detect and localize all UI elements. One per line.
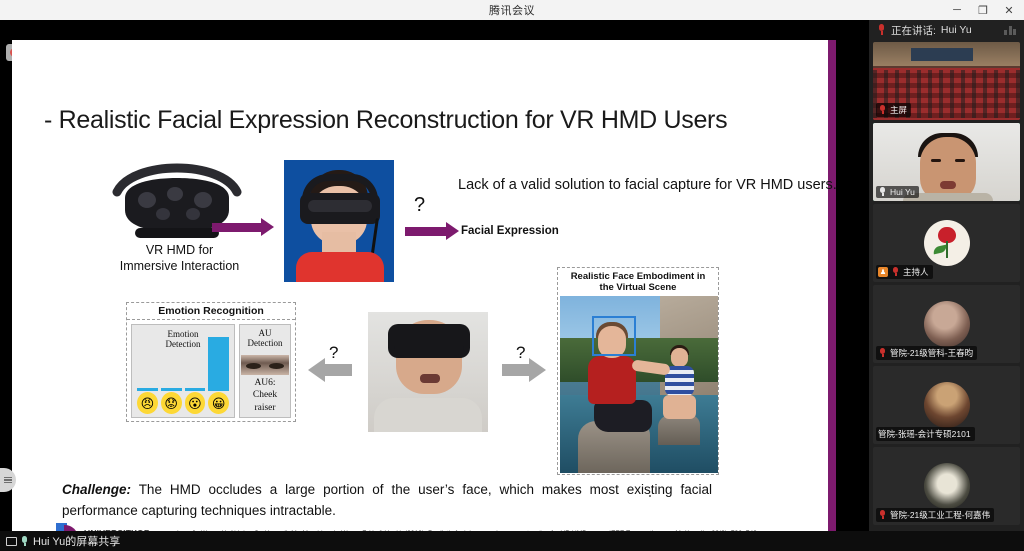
participant-label: 管院-21级工业工程-何嘉伟 xyxy=(876,508,994,522)
window-titlebar: 腾讯会议 ─ ❐ ✕ xyxy=(0,0,1024,20)
emotion-bar xyxy=(161,388,182,391)
hmd-caption: VR HMD for Immersive Interaction xyxy=(92,243,267,274)
close-icon[interactable]: ✕ xyxy=(996,0,1022,20)
purple-arrow-right-1 xyxy=(212,218,274,236)
participant-tile[interactable]: 管院-张瑶-会计专硕2101 xyxy=(873,366,1020,444)
participant-tile[interactable]: ♟主持人 xyxy=(873,204,1020,282)
mic-muted-icon xyxy=(891,267,900,277)
participant-name: 管院-21级工业工程-何嘉伟 xyxy=(890,509,990,521)
participant-name: Hui Yu xyxy=(890,187,915,197)
virtual-scene-image xyxy=(560,296,718,473)
audio-wave-icon xyxy=(1004,25,1016,35)
participant-name: 主持人 xyxy=(903,266,929,278)
speaking-prefix: 正在讲话: xyxy=(891,23,936,38)
hmd-caption-line2: Immersive Interaction xyxy=(92,259,267,275)
eye-region-image xyxy=(241,355,289,375)
screen-share-statusbar: Hui Yu的屏幕共享 xyxy=(0,531,1024,551)
emotion-bar xyxy=(185,388,206,391)
participant-tile[interactable]: 主屏 xyxy=(873,42,1020,120)
participant-name: 管院-21级管科-王春昀 xyxy=(890,347,973,359)
emotion-bars xyxy=(137,335,229,391)
hmd-caption-line1: VR HMD for xyxy=(92,243,267,259)
participant-label: 主屏 xyxy=(876,103,911,117)
mic-muted-icon xyxy=(878,348,887,358)
host-icon: ♟ xyxy=(878,267,888,277)
virtual-scene-panel: Realistic Face Embodiment in the Virtual… xyxy=(557,267,719,475)
participant-label: 管院-张瑶-会计专硕2101 xyxy=(876,427,975,441)
mic-icon xyxy=(21,536,29,547)
meeting-window: 腾讯会议 ─ ❐ ✕ 录制中 - Realistic Facial Expres… xyxy=(0,0,1024,551)
photo-hmd xyxy=(300,193,380,224)
participant-label: 管院-21级管科-王春昀 xyxy=(876,346,977,360)
emotion-face-icon: 😀 xyxy=(208,392,229,414)
shared-screen-stage[interactable]: 录制中 - Realistic Facial Expression Recons… xyxy=(0,20,868,531)
challenge-paragraph: Challenge: The HMD occludes a large port… xyxy=(62,480,712,522)
au-code-label: AU6: Cheek raiser xyxy=(240,377,290,414)
challenge-text: The HMD occludes a large portion of the … xyxy=(62,482,712,518)
window-title: 腾讯会议 xyxy=(489,2,535,18)
participant-tile[interactable]: 管院-21级管科-王春昀 xyxy=(873,285,1020,363)
participant-name: 主屏 xyxy=(890,104,907,116)
question-mark-top: ? xyxy=(414,194,425,217)
photo-man-mouth xyxy=(420,374,440,383)
mic-on-icon xyxy=(878,187,887,197)
participant-tile[interactable]: 管院-21级工业工程-何嘉伟 xyxy=(873,447,1020,525)
share-status-text: Hui Yu的屏幕共享 xyxy=(33,533,120,549)
purple-arrow-right-2 xyxy=(405,222,459,240)
emotion-recognition-panel: Emotion Recognition Emotion Detection 😠😟… xyxy=(126,302,296,422)
question-mark-right: ? xyxy=(516,343,525,363)
emotion-face-icon: 😠 xyxy=(137,392,158,414)
maximize-icon[interactable]: ❐ xyxy=(970,0,996,20)
participant-label: ♟主持人 xyxy=(876,265,933,279)
virtual-scene-title: Realistic Face Embodiment in the Virtual… xyxy=(558,268,718,296)
screen-icon xyxy=(6,537,17,546)
minimize-icon[interactable]: ─ xyxy=(944,0,970,20)
emotion-detection-chart: Emotion Detection 😠😟😮😀 xyxy=(131,324,235,418)
question-mark-left: ? xyxy=(329,343,338,363)
emotion-face-icon: 😮 xyxy=(185,392,206,414)
face-detection-box xyxy=(592,316,636,356)
emotion-bar xyxy=(137,388,158,391)
slide-title: - Realistic Facial Expression Reconstruc… xyxy=(44,106,764,135)
emotion-face-icon: 😟 xyxy=(161,392,182,414)
mic-muted-icon xyxy=(877,24,886,36)
emotion-bar xyxy=(208,337,229,391)
emotion-panel-title: Emotion Recognition xyxy=(127,303,295,320)
participant-sidebar: 正在讲话: Hui Yu 主屏Hui Yu♟主持人管院-21级管科-王春昀管院-… xyxy=(868,20,1024,531)
photo-man-with-hmd xyxy=(368,312,488,432)
photo-man-body xyxy=(374,398,482,432)
lack-of-solution-text: Lack of a valid solution to facial captu… xyxy=(458,177,836,193)
presentation-slide: - Realistic Facial Expression Reconstruc… xyxy=(12,40,836,540)
slide-edge-stripe xyxy=(828,40,836,540)
participant-label: Hui Yu xyxy=(876,186,919,198)
speaking-indicator: 正在讲话: Hui Yu xyxy=(869,20,1024,40)
speaking-name: Hui Yu xyxy=(941,24,972,36)
facial-expression-label: Facial Expression xyxy=(461,225,559,237)
participant-tile-list[interactable]: 主屏Hui Yu♟主持人管院-21级管科-王春昀管院-张瑶-会计专硕2101管院… xyxy=(869,40,1024,531)
emotion-faces: 😠😟😮😀 xyxy=(137,392,229,414)
mic-muted-icon xyxy=(878,105,887,115)
participant-tile[interactable]: Hui Yu xyxy=(873,123,1020,201)
photo-shirt xyxy=(296,252,384,282)
au-detection-label: AU Detection xyxy=(240,328,290,349)
mic-muted-icon xyxy=(878,510,887,520)
window-controls: ─ ❐ ✕ xyxy=(944,0,1022,20)
emotion-panel-body: Emotion Detection 😠😟😮😀 AU Detection xyxy=(127,320,295,422)
au-detection-box: AU Detection AU6: Cheek raiser xyxy=(239,324,291,418)
participant-name: 管院-张瑶-会计专硕2101 xyxy=(878,428,971,440)
photo-man-hmd xyxy=(388,324,470,358)
photo-vr-user xyxy=(284,160,394,282)
challenge-label: Challenge: xyxy=(62,482,131,497)
